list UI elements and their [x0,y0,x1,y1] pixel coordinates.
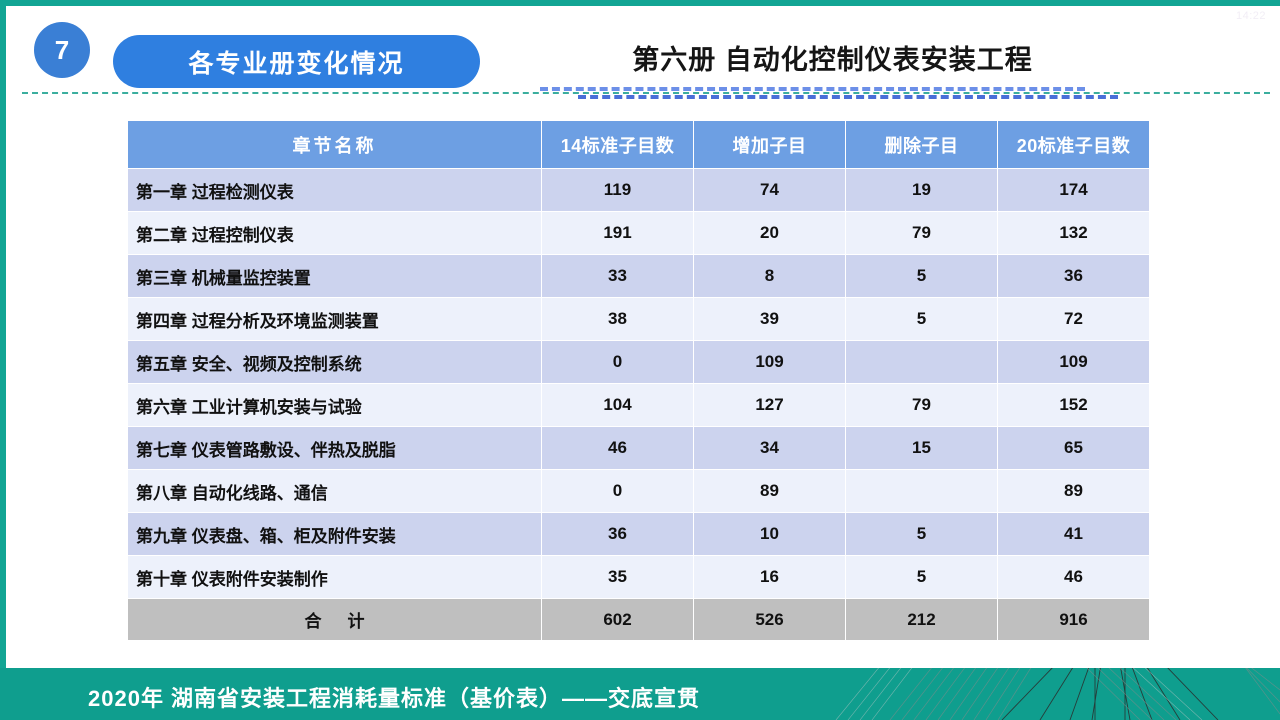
cell-deleted: 19 [846,169,998,212]
chapter-change-table: 章节名称 14标准子目数 增加子目 删除子目 20标准子目数 第一章 过程检测仪… [127,120,1149,641]
table-row: 第二章 过程控制仪表1912079132 [128,212,1150,255]
title-underline-dash-lower [578,95,1118,99]
cell-14-std-count: 191 [542,212,694,255]
cell-20-std-count: 152 [998,384,1150,427]
cell-20-std-count: 46 [998,556,1150,599]
cell-14-std-count: 38 [542,298,694,341]
cell-deleted: 5 [846,556,998,599]
cell-20-std-count: 72 [998,298,1150,341]
cell-added: 39 [694,298,846,341]
table-row: 第八章 自动化线路、通信08989 [128,470,1150,513]
cell-chapter-name: 第七章 仪表管路敷设、伴热及脱脂 [128,427,542,470]
cell-chapter-name: 第九章 仪表盘、箱、柜及附件安装 [128,513,542,556]
section-number-badge: 7 [34,22,90,78]
cell-total-14-std-count: 602 [542,599,694,641]
cell-chapter-name: 第二章 过程控制仪表 [128,212,542,255]
title-underline-dash-upper [540,87,1085,91]
cell-added: 89 [694,470,846,513]
cell-added: 74 [694,169,846,212]
cell-20-std-count: 109 [998,341,1150,384]
table-row: 第四章 过程分析及环境监测装置3839572 [128,298,1150,341]
cell-chapter-name: 第四章 过程分析及环境监测装置 [128,298,542,341]
cell-added: 127 [694,384,846,427]
cell-deleted: 5 [846,255,998,298]
cell-chapter-name: 第六章 工业计算机安装与试验 [128,384,542,427]
book-title: 第六册 自动化控制仪表安装工程 [560,38,1105,77]
cell-14-std-count: 33 [542,255,694,298]
cell-deleted: 79 [846,212,998,255]
column-header-20-std-count: 20标准子目数 [998,121,1150,169]
table-row: 第七章 仪表管路敷设、伴热及脱脂46341565 [128,427,1150,470]
column-header-14-std-count: 14标准子目数 [542,121,694,169]
section-title-pill: 各专业册变化情况 [113,35,480,88]
cell-chapter-name: 第一章 过程检测仪表 [128,169,542,212]
cell-14-std-count: 35 [542,556,694,599]
table-row: 第九章 仪表盘、箱、柜及附件安装3610541 [128,513,1150,556]
cell-added: 34 [694,427,846,470]
cell-added: 109 [694,341,846,384]
cell-20-std-count: 41 [998,513,1150,556]
table-body: 第一章 过程检测仪表1197419174第二章 过程控制仪表1912079132… [128,169,1150,641]
cell-total-deleted: 212 [846,599,998,641]
cell-total-added: 526 [694,599,846,641]
cell-20-std-count: 89 [998,470,1150,513]
table-header-row: 章节名称 14标准子目数 增加子目 删除子目 20标准子目数 [128,121,1150,169]
slide-footer: 2020年 湖南省安装工程消耗量标准（基价表）——交底宣贯 [0,668,1280,720]
cell-total-label: 合计 [128,599,542,641]
cell-20-std-count: 174 [998,169,1150,212]
cell-14-std-count: 0 [542,341,694,384]
cell-added: 10 [694,513,846,556]
table-row: 第六章 工业计算机安装与试验10412779152 [128,384,1150,427]
cell-added: 20 [694,212,846,255]
cell-20-std-count: 36 [998,255,1150,298]
cell-chapter-name: 第十章 仪表附件安装制作 [128,556,542,599]
cell-chapter-name: 第三章 机械量监控装置 [128,255,542,298]
column-header-deleted: 删除子目 [846,121,998,169]
left-accent-bar [0,0,6,720]
table-row: 第三章 机械量监控装置338536 [128,255,1150,298]
cell-deleted: 5 [846,298,998,341]
cell-chapter-name: 第八章 自动化线路、通信 [128,470,542,513]
cell-14-std-count: 0 [542,470,694,513]
cell-14-std-count: 36 [542,513,694,556]
cell-deleted: 5 [846,513,998,556]
cell-20-std-count: 132 [998,212,1150,255]
cell-added: 16 [694,556,846,599]
cell-deleted [846,341,998,384]
clock-label: 14:22 [1236,10,1266,22]
cell-deleted: 79 [846,384,998,427]
slide-header: 7 各专业册变化情况 第六册 自动化控制仪表安装工程 [0,18,1280,82]
cell-14-std-count: 104 [542,384,694,427]
cell-chapter-name: 第五章 安全、视频及控制系统 [128,341,542,384]
cell-total-20-std-count: 916 [998,599,1150,641]
cell-20-std-count: 65 [998,427,1150,470]
cell-deleted [846,470,998,513]
column-header-chapter: 章节名称 [128,121,542,169]
cell-14-std-count: 46 [542,427,694,470]
footer-title: 2020年 湖南省安装工程消耗量标准（基价表）——交底宣贯 [88,681,700,713]
table-total-row: 合计602526212916 [128,599,1150,641]
table-row: 第一章 过程检测仪表1197419174 [128,169,1150,212]
top-accent-bar [0,0,1280,6]
column-header-added: 增加子目 [694,121,846,169]
cell-deleted: 15 [846,427,998,470]
header-divider [22,92,1270,94]
cell-added: 8 [694,255,846,298]
bridge-line-art-decoration [740,668,1280,720]
table-row: 第五章 安全、视频及控制系统0109109 [128,341,1150,384]
cell-14-std-count: 119 [542,169,694,212]
table-row: 第十章 仪表附件安装制作3516546 [128,556,1150,599]
